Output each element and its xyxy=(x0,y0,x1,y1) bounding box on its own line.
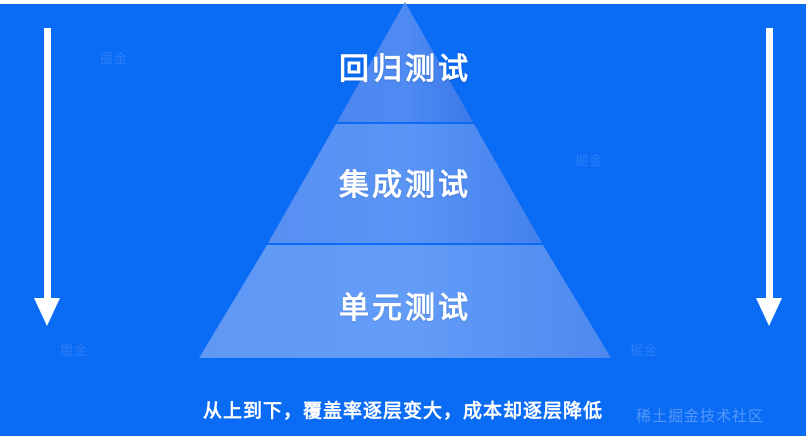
right-down-arrow xyxy=(754,28,784,333)
slide-canvas: 掘金 掘金 掘金 掘金 掘金 稀土掘金技术社区 xyxy=(0,0,806,442)
watermark-text: 掘金 xyxy=(100,48,128,67)
arrow-shaft xyxy=(44,28,51,300)
watermark-text: 掘金 xyxy=(60,340,88,359)
test-pyramid-diagram: 回归测试 集成测试 单元测试 xyxy=(130,0,680,360)
pyramid-label-unit: 单元测试 xyxy=(130,283,680,327)
pyramid-label-integration: 集成测试 xyxy=(130,160,680,204)
left-down-arrow xyxy=(32,28,62,333)
pyramid-label-regression: 回归测试 xyxy=(130,44,680,88)
arrow-head-icon xyxy=(756,298,782,326)
arrow-shaft xyxy=(766,28,773,300)
arrow-head-icon xyxy=(34,298,60,326)
bottom-white-band xyxy=(0,436,806,442)
slide-caption: 从上到下，覆盖率逐层变大，成本却逐层降低 xyxy=(0,396,806,423)
